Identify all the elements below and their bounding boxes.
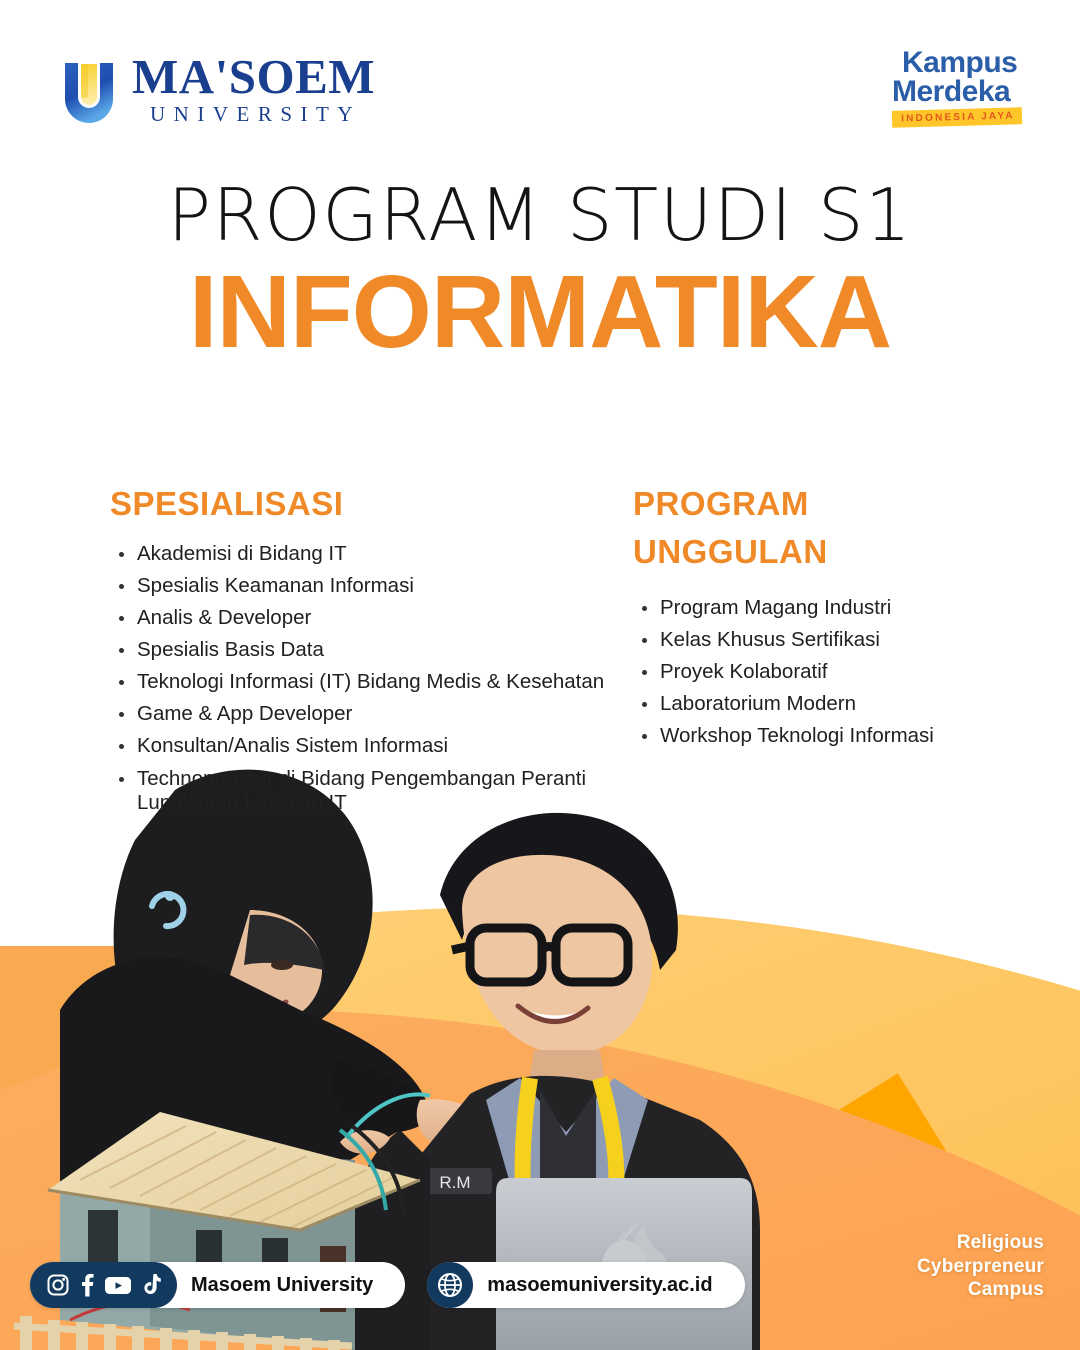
list-item: Laboratorium Modern: [633, 692, 1033, 717]
masoem-university-logo: MA'SOEM UNIVERSITY: [60, 52, 375, 125]
title-block: PROGRAM STUDI S1 INFORMATIKA: [0, 178, 1080, 363]
list-item: Workshop Teknologi Informasi: [633, 724, 1033, 749]
list-item: Program Magang Industri: [633, 596, 1033, 621]
list-item: Teknologi Informasi (IT) Bidang Medis & …: [110, 670, 630, 695]
tagline-line1: Religious: [917, 1231, 1044, 1255]
social-icons-group: [30, 1262, 177, 1308]
list-item: Game & App Developer: [110, 702, 630, 727]
footer-contact-bar: Masoem University masoemuniversity.ac.id: [30, 1262, 745, 1308]
tagline-line3: Campus: [917, 1278, 1044, 1302]
tagline-line2: Cyberpreneur: [917, 1255, 1044, 1279]
social-handle-label: Masoem University: [191, 1274, 379, 1297]
youtube-icon[interactable]: [104, 1273, 132, 1297]
campus-tagline: Religious Cyberpreneur Campus: [917, 1231, 1044, 1302]
kampus-merdeka-ribbon: INDONESIA JAYA: [892, 107, 1022, 128]
masoem-u-logo-icon: [60, 55, 118, 123]
list-item: Proyek Kolaboratif: [633, 660, 1033, 685]
spesialisasi-heading: SPESIALISASI: [110, 480, 630, 528]
list-item: Spesialis Keamanan Informasi: [110, 574, 630, 599]
program-unggulan-heading-line2: UNGGULAN: [633, 528, 883, 576]
website-pill[interactable]: masoemuniversity.ac.id: [427, 1262, 744, 1308]
spesialisasi-column: SPESIALISASI Akademisi di Bidang IT Spes…: [110, 480, 630, 823]
program-unggulan-heading: PROGRAM UNGGULAN: [633, 480, 883, 576]
tiktok-icon[interactable]: [141, 1273, 161, 1297]
spesialisasi-list: Akademisi di Bidang IT Spesialis Keamana…: [110, 542, 630, 816]
program-unggulan-list: Program Magang Industri Kelas Khusus Ser…: [633, 596, 1033, 749]
list-item: Analis & Developer: [110, 606, 630, 631]
list-item: Akademisi di Bidang IT: [110, 542, 630, 567]
list-item: Technopreneur di Bidang Pengembangan Per…: [110, 767, 630, 816]
logo-subtitle: UNIVERSITY: [132, 104, 375, 125]
kampus-merdeka-line2: Merdeka: [892, 77, 1022, 106]
facebook-icon[interactable]: [79, 1273, 95, 1297]
svg-text:R.M: R.M: [439, 1173, 470, 1192]
program-title-line1: PROGRAM STUDI S1: [0, 178, 1080, 254]
list-item: Spesialis Basis Data: [110, 638, 630, 663]
globe-icon[interactable]: [427, 1262, 473, 1308]
program-unggulan-heading-line1: PROGRAM: [633, 480, 883, 528]
program-unggulan-column: PROGRAM UNGGULAN Program Magang Industri…: [633, 480, 1033, 756]
instagram-icon[interactable]: [46, 1273, 70, 1297]
list-item: Kelas Khusus Sertifikasi: [633, 628, 1033, 653]
kampus-merdeka-logo: Kampus Merdeka INDONESIA JAYA: [892, 48, 1022, 126]
kampus-merdeka-line1: Kampus: [892, 48, 1022, 77]
program-title-line2: INFORMATIKA: [0, 260, 1080, 363]
social-media-pill[interactable]: Masoem University: [30, 1262, 405, 1308]
website-label: masoemuniversity.ac.id: [487, 1274, 718, 1297]
logo-name: MA'SOEM: [132, 52, 375, 101]
list-item: Konsultan/Analis Sistem Informasi: [110, 734, 630, 759]
poster-header: MA'SOEM UNIVERSITY Kampus Merdeka INDONE…: [0, 0, 1080, 150]
